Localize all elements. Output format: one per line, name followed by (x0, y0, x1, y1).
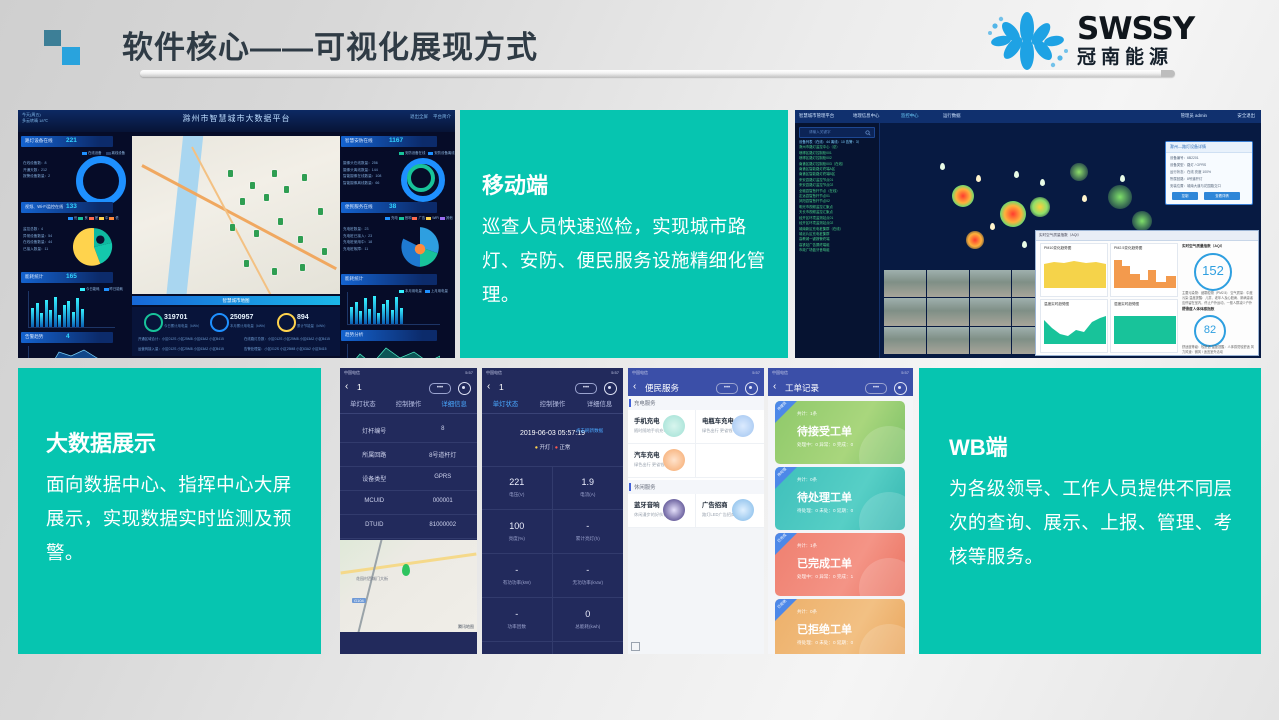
camera-tile[interactable] (970, 270, 1012, 297)
detail-row: MCUID 000001 (340, 490, 477, 515)
card-header-streetlight: 路灯设备在线 221 (21, 136, 113, 147)
card-label: 视频、Wi-Fi监控在线 (25, 204, 63, 210)
gear-icon[interactable] (458, 382, 471, 395)
map-marker[interactable] (298, 236, 303, 243)
camera-tile[interactable] (970, 298, 1012, 325)
phone-statusbar: 中国电信 5:57 (482, 368, 623, 378)
heat-blob (966, 231, 984, 249)
section-leisure: 休闲服务 (628, 480, 764, 494)
carrier-label: 中国电信 (486, 370, 502, 376)
card-header-trend: 趋势分析 (341, 330, 437, 341)
metric-cell: - 功率因数 (482, 598, 553, 642)
map-marker[interactable] (300, 264, 305, 271)
heat-blob (1108, 185, 1132, 209)
map-marker[interactable] (322, 248, 327, 255)
phone-device-detail: 中国电信 5:57 ‹ 1 ••• 单灯状态 控制操作 详细信息 灯杆编号 8 … (340, 368, 477, 654)
dashboard-right-column: 智慧安防在线 1167 安防设备在线 安防设备离线 摄像头在线数量：256 摄像… (337, 134, 455, 358)
card-header-video: 视频、Wi-Fi监控在线 133 (21, 202, 113, 213)
card-label: 能耗统计 (25, 274, 43, 280)
stats-streetlight: 在线设备数：8 开通天数：212 报警设备数量：2 (23, 160, 50, 180)
detail-row: 设备类型 GPRS (340, 466, 477, 491)
detail-value: 8号道杆灯 (409, 450, 478, 459)
area-chart-alarm (28, 346, 115, 358)
panel-bigdata-title: 大数据展示 (46, 426, 305, 458)
camera-tile[interactable] (927, 298, 969, 325)
stat-label: 累计节能量（kWh） (297, 323, 328, 328)
comfort-description: 舒适度等级：较舒适 温度提醒：人体感觉较舒适 风力风速：微风 / 适宜室外活动 (1182, 345, 1254, 355)
card-flag: 已拒绝 (775, 599, 797, 621)
panel-bigdata: 大数据展示 面向数据中心、指挥中心大屏展示，实现数据实时监测及预警。 (18, 368, 321, 654)
ring-icon (277, 313, 296, 332)
metric-label: 功率因数 (482, 624, 552, 630)
phone-lamp-status: 中国电信 5:57 ‹ 1 ••• 单灯状态 控制操作 详细信息 2019-06… (482, 368, 623, 654)
exit-fullscreen-link[interactable]: 退出全屏 (410, 114, 428, 119)
more-icon[interactable]: ••• (716, 383, 738, 394)
map-marker[interactable] (302, 174, 307, 181)
air-quality-window: 实时空气质量指数（AQI） PM10变化趋势图 PM2.5变化趋势图 温度实时趋… (1035, 230, 1259, 356)
stat-row: 开通区域合计：小区012S 小区25M8 小区63A2 小区B415 (138, 336, 224, 341)
breadcrumb-platform[interactable]: 智慧城市管理平台 (799, 113, 834, 119)
service-item-car-charging[interactable]: 汽车充电 绿色出行 更省钱 (628, 444, 696, 478)
gis-topbar: 智慧城市管理平台 地理信息中心 监控中心 运行数据 管理员 admin 安全退出 (795, 110, 1261, 123)
detail-value: 8 (409, 426, 478, 432)
stat-row: 告警处理量：小区012S 小区25M8 小区63A2 小区B415 (244, 346, 327, 351)
breadcrumb-data[interactable]: 运行数据 (943, 113, 961, 119)
decorative-squares (44, 30, 84, 64)
card-meta: 处理中：0 异常：0 完成：0 (797, 442, 853, 448)
home-indicator-icon (631, 642, 640, 651)
detail-key: 所属回路 (340, 450, 409, 459)
metric-label: 无功功率(kVar) (553, 580, 624, 586)
stat-row: 运营商接入量：小区012S 小区25M8 小区63A2 小区B415 (138, 346, 224, 351)
metric-value: 1.9 (553, 477, 624, 487)
popup-detail-button[interactable]: 查看详情 (1204, 192, 1240, 200)
phone-charging-icon (663, 415, 685, 437)
ring-icon (144, 313, 163, 332)
metric-cell: 0 总能耗(kwh) (553, 598, 624, 642)
panel-mobile-body: 巡查人员快速巡检，实现城市路灯、安防、便民服务设施精细化管理。 (482, 210, 772, 312)
card-title: 已拒绝工单 (797, 621, 852, 637)
map-road-badge: G104 (352, 598, 366, 603)
service-item-bluetooth-speaker[interactable]: 蓝牙音响 休闲漫步的好伙伴 (628, 494, 696, 528)
card-value: 133 (66, 203, 77, 210)
stat-value: 319701 (164, 314, 187, 321)
service-desc: 路灯LED广告招商 (702, 512, 735, 518)
brand-logo: SWSSY 冠南能源 (981, 8, 1231, 74)
camera-tile[interactable] (884, 270, 926, 297)
logout-link[interactable]: 安全退出 (1237, 113, 1255, 119)
gear-icon[interactable] (604, 382, 617, 395)
map-marker[interactable] (228, 170, 233, 177)
metric-cell: 1.9 电流(A) (553, 466, 624, 510)
brand-name: SWSSY (1077, 12, 1194, 46)
card-title: 已完成工单 (797, 555, 852, 571)
panel-web: WB端 为各级领导、工作人员提供不同层次的查询、展示、上报、管理、考核等服务。 (919, 368, 1261, 654)
metric-cell: 100 亮度(%) (482, 510, 553, 554)
carrier-label: 中国电信 (344, 370, 360, 376)
metric-cell: - 今日能耗(kwh) (482, 642, 553, 654)
map-label: 花园村西城门大街 (356, 576, 388, 582)
map-pin[interactable] (1120, 175, 1125, 182)
card-label: 智慧安防在线 (345, 138, 373, 144)
phone-tabs[interactable]: 单灯状态 控制操作 详细信息 (482, 396, 623, 414)
popup-title: 滁州—路灯设备详情 (1170, 144, 1206, 150)
card-subtitle: 共计：1条 (797, 411, 817, 417)
metric-value: 0 (553, 609, 624, 619)
metric-cell: 221 电压(V) (482, 466, 553, 510)
more-icon[interactable]: ••• (865, 383, 887, 394)
card-decoration (859, 624, 905, 654)
work-order-card-pending[interactable]: 待处理 共计：0条 待处理工单 待处理：0 未处：0 延期：0 (775, 467, 905, 530)
map-marker[interactable] (244, 260, 249, 267)
nav-title: 1 (499, 382, 504, 392)
map-marker[interactable] (250, 182, 255, 189)
map-pin[interactable] (1014, 171, 1019, 178)
card-label: 能耗统计 (345, 276, 363, 282)
detail-row: 所属回路 8号道杆灯 (340, 442, 477, 467)
card-decoration (859, 558, 905, 596)
service-item-ebike-charging[interactable]: 电瓶车充电 绿色出行 更省钱 (696, 410, 764, 444)
chart-title: PM10变化趋势图 (1044, 246, 1071, 251)
phone-statusbar: 中国电信 5:57 (340, 368, 477, 378)
map-pin[interactable] (990, 223, 995, 230)
chart-temperature: 温度实时趋势图 (1040, 299, 1108, 353)
map-pin[interactable] (976, 175, 981, 182)
detail-value: GPRS (409, 474, 478, 480)
card-label: 告警趋势 (25, 334, 43, 340)
map-marker[interactable] (264, 194, 269, 201)
map-marker[interactable] (272, 268, 277, 275)
metric-value: - (553, 565, 624, 575)
work-order-card-accepted[interactable]: 待接受 共计：1条 待接受工单 处理中：0 异常：0 完成：0 (775, 401, 905, 464)
carrier-label: 中国电信 (772, 370, 788, 376)
service-name: 蓝牙音响 (634, 500, 660, 509)
service-name: 手机充电 (634, 416, 660, 425)
card-flag: 已完成 (775, 533, 797, 555)
metric-value: 221 (482, 477, 552, 487)
phone-navbar: ‹ 工单记录 ••• (768, 378, 913, 396)
card-meta: 待处理：0 未处：0 延期：0 (797, 508, 853, 514)
normal-state-icon: ● (555, 445, 558, 451)
air-quality-window-title: 实时空气质量指数（AQI） (1039, 233, 1081, 238)
phone-work-orders: 中国电信 5:57 ‹ 工单记录 ••• 待接受 共计：1条 待接受工单 处理中… (768, 368, 913, 654)
metric-label: 亮度(%) (482, 536, 552, 542)
metric-value: - (482, 565, 552, 575)
nav-title: 1 (357, 382, 362, 392)
card-header-energy-right: 能耗统计 (341, 274, 437, 285)
device-tree[interactable]: 设备列表（在线：44 离线：10 告警：3） 滁州市路灯监控中心（总） 琅琊区路… (799, 140, 861, 254)
square-dark-icon (44, 30, 61, 46)
detail-key: 设备类型 (340, 474, 409, 483)
comfort-title: 舒适度人体体感指数 (1182, 307, 1214, 312)
card-header-service: 便民服务在线 38 (341, 202, 437, 213)
aqi-title: 实时空气质量指数（AQI） (1182, 244, 1224, 249)
tab-detail[interactable]: 详细信息 (576, 396, 623, 413)
back-arrow-icon[interactable]: ‹ (345, 381, 348, 392)
service-name: 广告招商 (702, 500, 728, 509)
popup-row: 所属回路：8号道杆灯 (1170, 176, 1202, 181)
water-drop-flower-icon (981, 10, 1073, 72)
card-meta: 处理中：0 异常：0 完成：1 (797, 574, 853, 580)
camera-tile[interactable] (884, 298, 926, 325)
metric-value: - (482, 609, 552, 619)
legend-security: 安防设备在线 安防设备离线 (399, 150, 455, 155)
heat-blob (1000, 201, 1026, 227)
map-rail (354, 540, 385, 632)
service-item-empty (696, 444, 764, 478)
map-pin[interactable] (1082, 195, 1087, 202)
card-header-energy: 能耗统计 165 (21, 272, 113, 283)
donut-chart-streetlight (76, 156, 126, 206)
tree-item[interactable]: 市政广场蓝牙音响组 (799, 248, 861, 253)
stat-row: 在线路灯总数：小区012S 小区25M8 小区63A2 小区B415 (244, 336, 330, 341)
user-label[interactable]: 管理员 admin (1181, 113, 1207, 119)
card-flag: 待接受 (775, 401, 797, 423)
heat-blob (1070, 163, 1088, 181)
lamp-status-summary: 2019-06-03 05:57:19 点击刷新数据 ● 开灯 | ● 正常 (482, 418, 623, 467)
detail-value: 000001 (409, 498, 478, 504)
tab-control[interactable]: 控制操作 (386, 396, 432, 413)
popup-control-button[interactable]: 控制 (1172, 192, 1198, 200)
back-arrow-icon[interactable]: ‹ (773, 381, 776, 392)
card-title: 待处理工单 (797, 489, 852, 505)
chart-title: 湿度实时趋势图 (1114, 302, 1139, 307)
brand-text: SWSSY 冠南能源 (1077, 12, 1194, 70)
search-placeholder: 请输入关键字 (809, 130, 831, 135)
service-desc: 绿色出行 更省钱 (634, 462, 664, 468)
card-meta: 待处理：0 未处：0 延期：0 (797, 640, 853, 646)
chart-pm25: PM2.5变化趋势图 (1110, 243, 1178, 297)
heat-blob (952, 185, 974, 207)
clock-label: 5:57 (611, 370, 619, 375)
card-header-security: 智慧安防在线 1167 (341, 136, 437, 147)
ebike-charging-icon (732, 415, 754, 437)
card-value: 38 (389, 203, 396, 210)
energy-right-bars (350, 294, 403, 324)
phone-map[interactable]: 花园村西城门大街 G104 腾讯地图 (340, 540, 477, 632)
panel-mobile: 移动端 巡查人员快速巡检，实现城市路灯、安防、便民服务设施精细化管理。 (460, 110, 788, 358)
card-value: 165 (66, 273, 77, 280)
metric-value: - (482, 653, 552, 654)
map-marker[interactable] (240, 198, 245, 205)
tab-control[interactable]: 控制操作 (529, 396, 576, 413)
aqi-value: 152 (1194, 253, 1232, 291)
dashboard-title: 滁州市智慧城市大数据平台 (183, 113, 291, 124)
nav-title: 工单记录 (785, 382, 819, 394)
legend-streetlight: 在线设备 离线设备 (82, 150, 125, 155)
map-marker[interactable] (272, 170, 277, 177)
metric-cell: - 有功功率(kW) (482, 554, 553, 598)
chart-title: 温度实时趋势图 (1044, 302, 1069, 307)
map-attribution: 腾讯地图 (458, 624, 474, 630)
detail-key: DTUID (340, 522, 409, 528)
map-marker[interactable] (254, 230, 259, 237)
chart-title: PM2.5变化趋势图 (1114, 246, 1142, 251)
gear-icon[interactable] (894, 382, 907, 395)
metric-label: 总能耗(kwh) (553, 624, 624, 630)
pie-chart-video (73, 226, 115, 273)
metric-value: 100 (482, 521, 552, 531)
camera-wall[interactable] (884, 270, 1054, 354)
chart-humidity: 湿度实时趋势图 (1110, 299, 1178, 353)
service-name: 电瓶车充电 (702, 416, 734, 425)
metric-value: 0 (553, 653, 624, 654)
camera-tile[interactable] (884, 327, 926, 354)
phone-public-services: 中国电信 5:57 ‹ 便民服务 ••• 充电服务 手机充电 随时随地手机充电 … (628, 368, 764, 654)
brand-name-cn: 冠南能源 (1077, 46, 1194, 70)
panel-mobile-title: 移动端 (482, 168, 772, 200)
map-marker[interactable] (318, 208, 323, 215)
back-arrow-icon[interactable]: ‹ (633, 381, 636, 392)
carrier-label: 中国电信 (632, 370, 648, 376)
clock-label: 5:57 (465, 370, 473, 375)
heat-blob (1030, 197, 1050, 217)
area-chart-trend (347, 344, 440, 358)
detail-key: MCUID (340, 498, 409, 504)
map-marker[interactable] (284, 186, 289, 193)
card-subtitle: 共计：0条 (797, 477, 817, 483)
bluetooth-speaker-icon (663, 499, 685, 521)
card-decoration (859, 492, 905, 530)
metric-cell: - 无功功率(kVar) (553, 554, 624, 598)
comfort-value: 82 (1194, 315, 1226, 347)
section-title: 充电服务 (634, 399, 656, 407)
camera-tile[interactable] (970, 327, 1012, 354)
gis-map[interactable]: 滁州—路灯设备详情 设备编号：6B2201 设备类型：路灯 / GPRS 运行状… (880, 123, 1261, 358)
panel-bigdata-body: 面向数据中心、指挥中心大屏展示，实现数据实时监测及预警。 (46, 468, 305, 570)
card-value: 4 (66, 333, 70, 340)
map-marker-icon[interactable] (402, 564, 410, 576)
popup-row: 设备编号：6B2201 (1170, 155, 1199, 160)
card-decoration (859, 426, 905, 464)
gis-platform-screenshot: 智慧城市管理平台 地理信息中心 监控中心 运行数据 管理员 admin 安全退出… (795, 110, 1261, 358)
more-icon[interactable]: ••• (429, 383, 451, 394)
detail-key: 灯杆编号 (340, 426, 409, 435)
map-marker[interactable] (230, 224, 235, 231)
work-order-card-rejected[interactable]: 已拒绝 共计：0条 已拒绝工单 待处理：0 未处：0 延期：0 (775, 599, 905, 654)
metric-label: 电流(A) (553, 492, 624, 498)
map-marker[interactable] (278, 218, 283, 225)
phone-navbar: ‹ 1 ••• (340, 378, 477, 396)
breadcrumb-gis[interactable]: 地理信息中心 (853, 113, 879, 119)
page-header: 软件核心——可视化展现方式 (0, 0, 1279, 92)
card-value: 1167 (389, 137, 403, 144)
services-filler (628, 528, 764, 654)
map-title-bar: 智慧城市地图 (132, 296, 340, 305)
dashboard-topbar-actions: 退出全屏 平台简介 (410, 114, 451, 120)
air-quality-titlebar: 实时空气质量指数（AQI） (1036, 231, 1258, 241)
detail-value: 81000002 (409, 522, 478, 528)
card-label: 路灯设备在线 (25, 138, 53, 144)
panel-web-title: WB端 (949, 430, 1243, 462)
card-label: 便民服务在线 (345, 204, 373, 210)
clock-label: 5:57 (752, 370, 760, 375)
lamp-state-label: 开灯 (540, 445, 551, 451)
platform-intro-link[interactable]: 平台简介 (433, 114, 451, 119)
metric-value: - (553, 521, 624, 531)
detail-row: 灯杆编号 8 (340, 418, 477, 443)
legend-service: 充电 音响 广告 WiFi 其他 (385, 215, 453, 220)
gis-sidebar: 请输入关键字 设备列表（在线：44 离线：10 告警：3） 滁州市路灯监控中心（… (795, 123, 880, 358)
card-header-alarm: 告警趋势 4 (21, 332, 113, 343)
phone-navbar: ‹ 1 ••• (482, 378, 623, 396)
back-arrow-icon[interactable]: ‹ (487, 381, 490, 392)
stat-value: 250957 (230, 314, 253, 321)
bigdata-dashboard-screenshot: 滁州市智慧城市大数据平台 今天(周五)多云转晴 18℃ 退出全屏 平台简介 路灯… (18, 110, 455, 358)
pie-chart-service (397, 224, 443, 275)
card-subtitle: 共计：0条 (797, 609, 817, 615)
stats-video: 监控总数：4 异常设备数量：54 在线设备数量：44 已接入数量：11 (23, 226, 52, 252)
card-label: 趋势分析 (345, 332, 363, 338)
tab-detail[interactable]: 详细信息 (431, 396, 477, 413)
map-pin[interactable] (1022, 241, 1027, 248)
popup-row: 安装位置：城南大道与花园路交口 (1170, 183, 1221, 188)
map-pin[interactable] (1040, 179, 1045, 186)
phone-statusbar: 中国电信 5:57 (768, 368, 913, 378)
map-pin[interactable] (940, 163, 945, 170)
stats-security: 摄像头在线数量：256 摄像头离线数量：144 智能摄像在线数量：108 智能摄… (343, 160, 381, 186)
service-name: 汽车充电 (634, 450, 660, 459)
heat-blob (1132, 211, 1152, 231)
popup-row: 设备类型：路灯 / GPRS (1170, 162, 1206, 167)
section-charging: 充电服务 (628, 396, 764, 410)
energy-bars (31, 294, 84, 327)
device-detail-popup[interactable]: 滁州—路灯设备详情 设备编号：6B2201 设备类型：路灯 / GPRS 运行状… (1165, 141, 1253, 205)
car-charging-icon (663, 449, 685, 471)
service-desc: 绿色出行 更省钱 (702, 428, 732, 434)
metric-label: 电压(V) (482, 492, 552, 498)
breadcrumb-monitor[interactable]: 监控中心 (901, 113, 919, 119)
service-item-phone-charging[interactable]: 手机充电 随时随地手机充电 (628, 410, 696, 444)
gear-icon[interactable] (745, 382, 758, 395)
stat-label: 本月累计用电量（kWh） (230, 323, 267, 328)
card-subtitle: 共计：1条 (797, 543, 817, 549)
stat-label: 今日累计用电量（kWh） (164, 323, 201, 328)
popup-header: 滁州—路灯设备详情 (1166, 142, 1252, 153)
dashboard-map[interactable] (132, 136, 340, 294)
camera-tile[interactable] (927, 327, 969, 354)
metric-cell: 0 总电耗(kwh) (553, 642, 624, 654)
clock-label: 5:57 (901, 370, 909, 375)
metric-label: 累计亮灯(h) (553, 536, 624, 542)
card-flag: 待处理 (775, 467, 797, 489)
page-title: 软件核心——可视化展现方式 (122, 22, 538, 67)
phone-statusbar: 中国电信 5:57 (628, 368, 764, 378)
donut-chart-security-inner (407, 164, 435, 192)
nav-title: 便民服务 (645, 382, 679, 394)
search-input[interactable]: 请输入关键字 (799, 127, 875, 138)
dashboard-weather: 今天(周五)多云转晴 18℃ (22, 112, 48, 124)
more-icon[interactable]: ••• (575, 383, 597, 394)
search-icon (865, 130, 871, 136)
detail-row: DTUID 81000002 (340, 514, 477, 539)
dashboard-left-column: 路灯设备在线 221 在线设备 离线设备 在线设备数：8 开通天数：212 报警… (18, 134, 130, 358)
camera-tile[interactable] (927, 270, 969, 297)
panel-web-body: 为各级领导、工作人员提供不同层次的查询、展示、上报、管理、考核等服务。 (949, 472, 1243, 574)
section-title: 休闲服务 (634, 483, 656, 491)
card-value: 221 (66, 137, 77, 144)
work-order-card-completed[interactable]: 已完成 共计：1条 已完成工单 处理中：0 异常：0 完成：1 (775, 533, 905, 596)
tab-lamp-status[interactable]: 单灯状态 (482, 396, 529, 413)
stats-service: 充电桩数量：23 充电桩已接入：23 充电桩使用中：18 充电桩故障：11 (343, 226, 372, 252)
tab-lamp-status[interactable]: 单灯状态 (340, 396, 386, 413)
chart-pm10: PM10变化趋势图 (1040, 243, 1108, 297)
phone-tabs[interactable]: 单灯状态 控制操作 详细信息 (340, 396, 477, 414)
phone-navbar: ‹ 便民服务 ••• (628, 378, 764, 396)
service-item-advertising[interactable]: 广告招商 路灯LED广告招商 (696, 494, 764, 528)
metric-cell: - 累计亮灯(h) (553, 510, 624, 554)
card-title: 待接受工单 (797, 423, 852, 439)
